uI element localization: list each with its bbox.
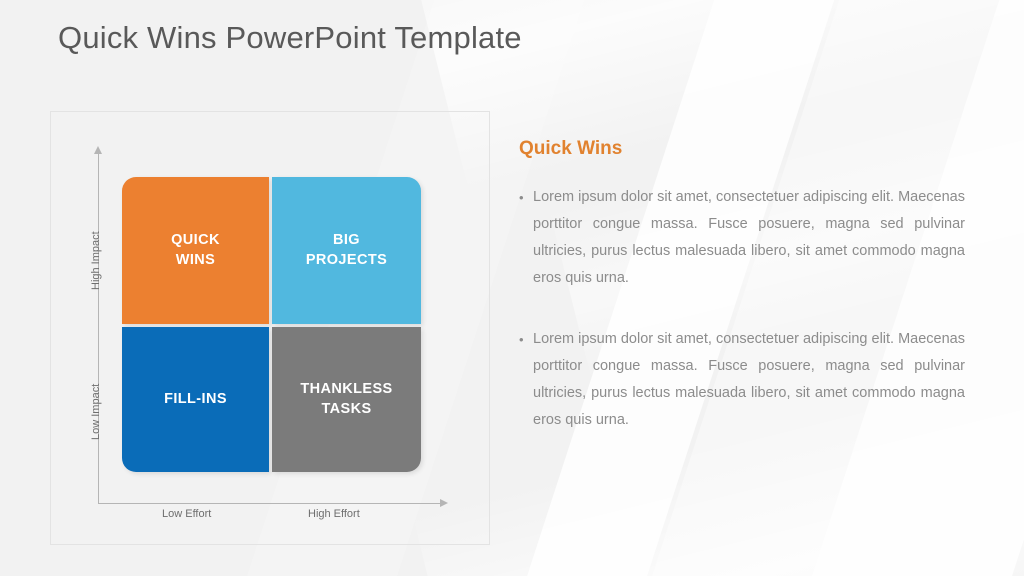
matrix-frame — [50, 111, 490, 545]
content-column: Quick Wins • Lorem ipsum dolor sit amet,… — [519, 138, 965, 468]
quadrant-label-line1: FILL-INS — [164, 390, 227, 410]
quadrant-fill-ins[interactable]: FILL-INS — [122, 327, 269, 472]
quadrant-label-line1: THANKLESS — [300, 380, 392, 400]
quadrant-label: QUICK WINS — [165, 231, 226, 270]
quadrant-label: FILL-INS — [158, 390, 233, 410]
quadrant-label-line2: TASKS — [300, 400, 392, 420]
quadrant-label: THANKLESS TASKS — [294, 380, 398, 419]
quadrant-quick-wins[interactable]: QUICK WINS — [122, 177, 269, 324]
quadrant-label: BIG PROJECTS — [300, 231, 393, 270]
list-item: • Lorem ipsum dolor sit amet, consectetu… — [519, 184, 965, 292]
y-axis-label-high: High Impact — [90, 231, 102, 290]
x-axis-label-high: High Effort — [308, 508, 360, 520]
quadrant-thankless-tasks[interactable]: THANKLESS TASKS — [272, 327, 421, 472]
quadrant-label-line2: PROJECTS — [306, 251, 387, 271]
list-item-text: Lorem ipsum dolor sit amet, consectetuer… — [533, 326, 965, 434]
bullet-icon: • — [519, 184, 533, 211]
quadrant-big-projects[interactable]: BIG PROJECTS — [272, 177, 421, 324]
y-axis-label-low: Low Impact — [90, 384, 102, 440]
content-heading: Quick Wins — [519, 138, 965, 160]
list-item: • Lorem ipsum dolor sit amet, consectetu… — [519, 326, 965, 434]
x-axis-line — [98, 503, 441, 504]
quadrant-label-line1: QUICK — [171, 231, 220, 251]
x-axis-label-low: Low Effort — [162, 508, 211, 520]
arrow-up-icon — [94, 146, 102, 154]
page-title: Quick Wins PowerPoint Template — [58, 20, 522, 56]
list-item-text: Lorem ipsum dolor sit amet, consectetuer… — [533, 184, 965, 292]
y-axis-line — [98, 152, 99, 504]
bullet-icon: • — [519, 326, 533, 353]
slide-canvas: Quick Wins PowerPoint Template High Impa… — [0, 0, 1024, 576]
quadrant-label-line2: WINS — [171, 251, 220, 271]
quadrant-label-line1: BIG — [306, 231, 387, 251]
arrow-right-icon — [440, 499, 448, 507]
